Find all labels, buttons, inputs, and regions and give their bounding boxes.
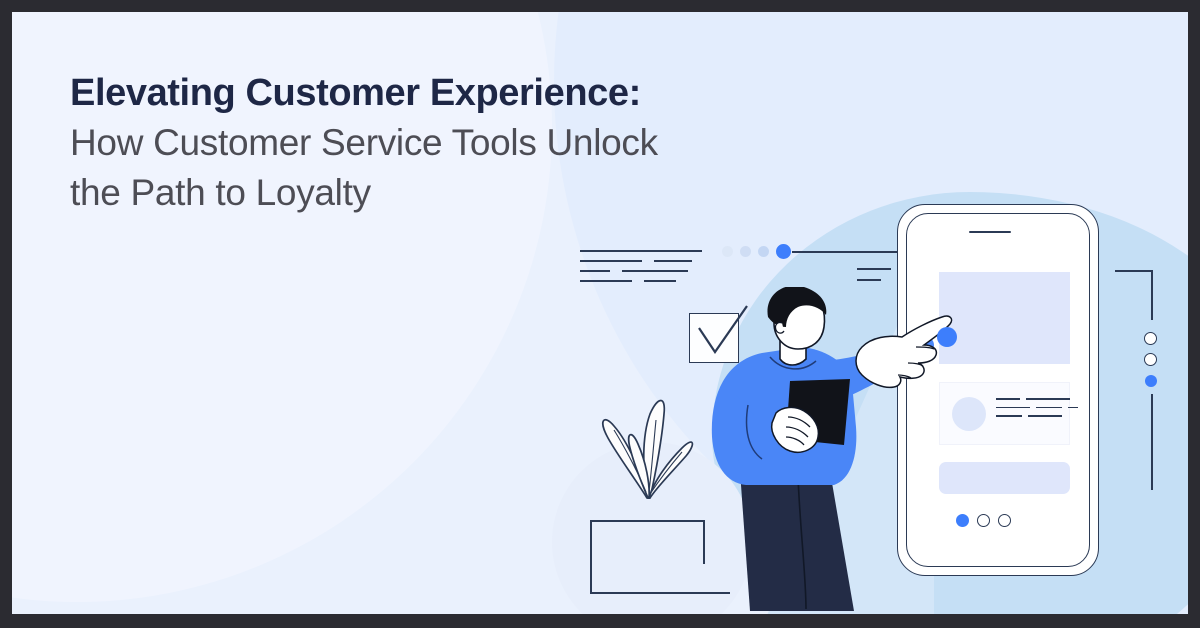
rail-step-inactive	[1144, 353, 1157, 366]
deco-line	[580, 260, 642, 262]
headline-secondary-line-2: the Path to Loyalty	[70, 168, 890, 218]
phone-speaker	[969, 231, 1011, 233]
card-text-line	[1068, 407, 1078, 409]
card-text-line	[1028, 415, 1062, 417]
banner-canvas: Elevating Customer Experience: How Custo…	[12, 12, 1188, 614]
deco-line	[580, 270, 610, 272]
rail-tail-line	[1151, 394, 1153, 490]
banner-frame: Elevating Customer Experience: How Custo…	[0, 0, 1200, 628]
progress-dot-inactive	[740, 246, 751, 257]
deco-line	[580, 280, 632, 282]
rect-edge-top	[590, 520, 705, 522]
deco-line	[654, 260, 692, 262]
card-text-line	[996, 398, 1020, 400]
deco-line	[644, 280, 676, 282]
headline-secondary-line-1: How Customer Service Tools Unlock	[70, 118, 890, 168]
person-pointing-hand	[856, 316, 952, 387]
person-pointing-illustration	[702, 287, 962, 614]
card-text-line	[996, 415, 1022, 417]
pagination-dot-inactive	[998, 514, 1011, 527]
headline-block: Elevating Customer Experience: How Custo…	[70, 68, 890, 218]
rect-edge-left	[590, 520, 592, 594]
rail-corner-horizontal	[1115, 270, 1153, 272]
progress-dots	[722, 244, 791, 259]
deco-line-row	[580, 280, 702, 282]
deco-line-row	[580, 270, 702, 272]
rail-step-active	[1145, 375, 1157, 387]
plant-decoration-icon	[592, 380, 702, 500]
tap-indicator-dot	[937, 327, 957, 347]
headline-primary: Elevating Customer Experience:	[70, 68, 890, 118]
card-text-line	[996, 407, 1030, 409]
card-text-row	[996, 407, 1078, 409]
card-text-row	[996, 398, 1078, 400]
progress-dot-inactive	[722, 246, 733, 257]
progress-dot-inactive	[758, 246, 769, 257]
card-text-lines	[996, 398, 1078, 424]
card-text-line	[1036, 407, 1062, 409]
text-lines-decoration	[580, 250, 702, 290]
progress-dot-active	[776, 244, 791, 259]
card-text-row	[996, 415, 1078, 417]
deco-line	[857, 279, 881, 281]
rail-corner-vertical	[1151, 270, 1153, 320]
vertical-step-rail	[1115, 270, 1179, 500]
deco-line-row	[580, 260, 702, 262]
card-text-line	[1026, 398, 1070, 400]
person-trousers	[740, 471, 854, 611]
deco-line	[580, 250, 702, 252]
pagination-dot-inactive	[977, 514, 990, 527]
screen-pagination	[956, 514, 1011, 527]
deco-line	[622, 270, 688, 272]
rail-step-inactive	[1144, 332, 1157, 345]
deco-line	[857, 268, 891, 270]
